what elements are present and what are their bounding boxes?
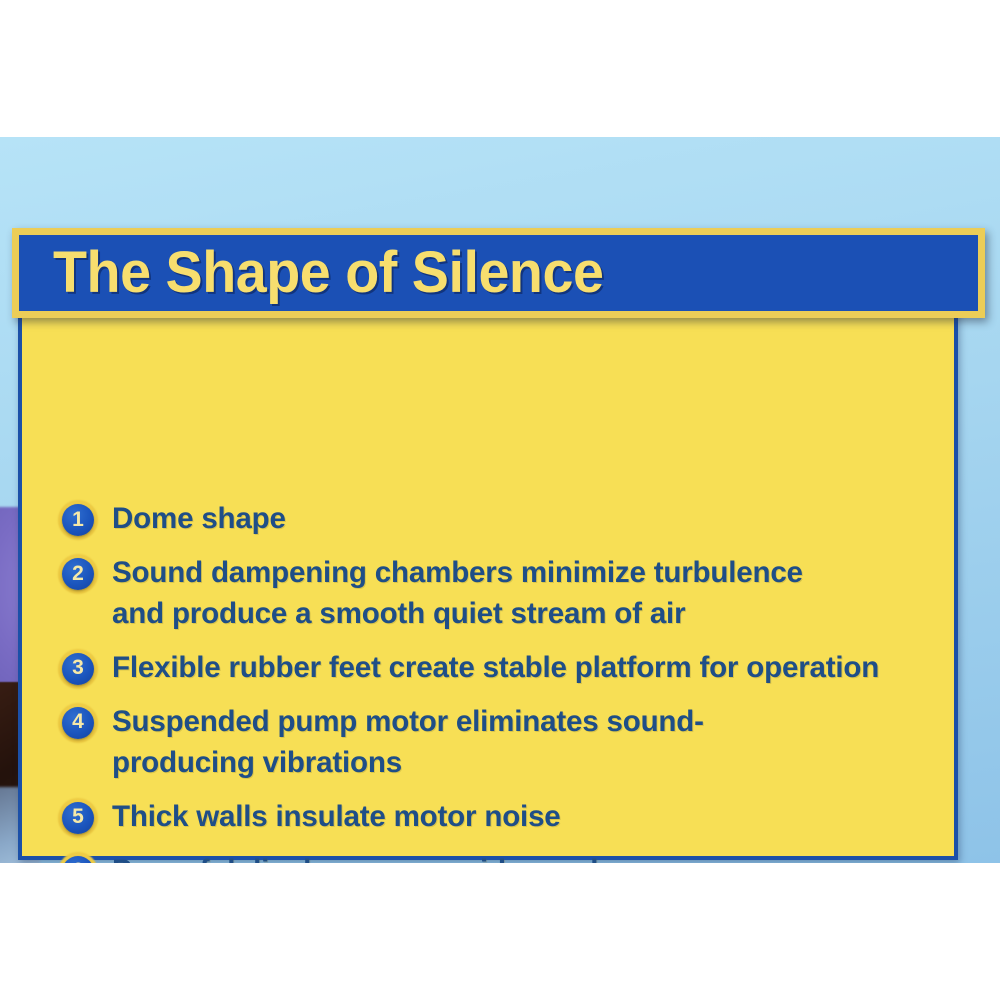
number-badge-icon: 4 [58,703,98,743]
badge-number: 4 [72,711,84,732]
list-item: 6Powerful diaphragms provide ample air f… [58,850,988,863]
list-item: 2Sound dampening chambers minimize turbu… [58,552,988,635]
list-item: 3Flexible rubber feet create stable plat… [58,647,988,689]
badge-disc: 3 [62,653,94,685]
number-badge-icon: 5 [58,798,98,838]
number-badge-icon: 1 [58,500,98,540]
feature-list: 1Dome shape2Sound dampening chambers min… [58,498,988,863]
list-item-label: Dome shape [112,498,286,539]
list-item-label: Flexible rubber feet create stable platf… [112,647,879,688]
badge-disc: 4 [62,707,94,739]
number-badge-icon: 2 [58,554,98,594]
list-item-label: Sound dampening chambers minimize turbul… [112,552,803,635]
badge-disc: 2 [62,558,94,590]
badge-number: 2 [72,563,84,584]
list-item: 1Dome shape [58,498,988,540]
list-item-label: Suspended pump motor eliminates sound- p… [112,701,704,784]
badge-number: 5 [72,806,84,827]
badge-number: 6 [72,860,84,863]
badge-number: 3 [72,657,84,678]
badge-disc: 5 [62,802,94,834]
list-item: 5Thick walls insulate motor noise [58,796,988,838]
list-item: 4Suspended pump motor eliminates sound- … [58,701,988,784]
list-item-label: Powerful diaphragms provide ample air fl… [112,850,615,863]
number-badge-icon: 6 [58,852,98,863]
feature-card: 1Dome shape2Sound dampening chambers min… [18,297,958,860]
list-item-label: Thick walls insulate motor noise [112,796,561,837]
badge-disc: 1 [62,504,94,536]
product-feature-photo: 1Dome shape2Sound dampening chambers min… [0,137,1000,863]
page-title: The Shape of Silence [53,244,603,302]
badge-number: 1 [72,509,84,530]
number-badge-icon: 3 [58,649,98,689]
title-banner: The Shape of Silence [12,228,985,318]
